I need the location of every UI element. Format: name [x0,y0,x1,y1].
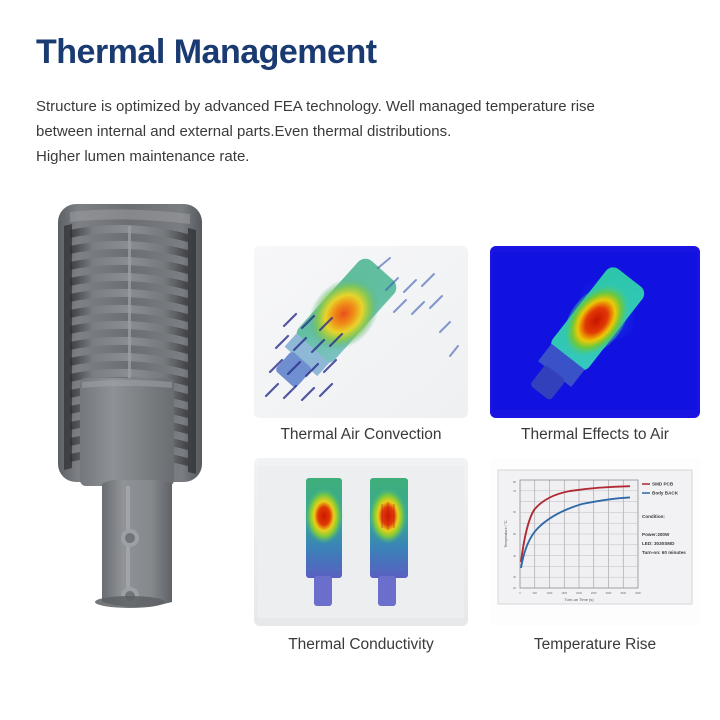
svg-text:3000: 3000 [606,591,612,595]
temperature-rise-chart: 20 30 40 50 60 70 80 0 500 1000 1500 200… [490,458,700,626]
caption-thermal-conductivity: Thermal Conductivity [254,636,468,654]
caption-thermal-air-convection: Thermal Air Convection [254,426,468,444]
chart-ylabel: Temperature / °C [504,520,508,548]
panel-temperature-rise: 20 30 40 50 60 70 80 0 500 1000 1500 200… [490,458,700,626]
panel-thermal-effects-to-air [490,246,700,418]
svg-text:1000: 1000 [547,591,553,595]
svg-text:3500: 3500 [620,591,626,595]
legend-label-smd-pcb: SMD PCB [652,482,674,487]
svg-text:500: 500 [533,591,538,595]
product-photo [44,196,244,666]
slide-canvas: Thermal Management Structure is optimize… [0,0,720,720]
svg-text:1500: 1500 [561,591,567,595]
page-title: Thermal Management [36,30,377,74]
caption-temperature-rise: Temperature Rise [490,636,700,654]
intro-paragraph: Structure is optimized by advanced FEA t… [36,94,596,169]
legend-label-body-back: Body BACK [652,491,679,496]
condition-power: Power:200W [642,532,670,537]
condition-turnon: Turn-on: 60 minutes [642,550,686,555]
condition-led: LED: 3030SMD [642,541,675,546]
condition-heading: Condition: [642,514,665,519]
paragraph-line-3: Higher lumen maintenance rate. [36,144,596,169]
paragraph-line-1: Structure is optimized by advanced FEA t… [36,94,596,119]
svg-text:4000: 4000 [635,591,641,595]
panel-thermal-conductivity [254,458,468,626]
caption-thermal-effects-to-air: Thermal Effects to Air [490,426,700,444]
svg-text:2000: 2000 [576,591,582,595]
panel-thermal-air-convection [254,246,468,418]
paragraph-line-2: between internal and external parts.Even… [36,119,596,144]
svg-text:2500: 2500 [591,591,597,595]
chart-xlabel: Turn-on Time (s) [564,597,594,602]
